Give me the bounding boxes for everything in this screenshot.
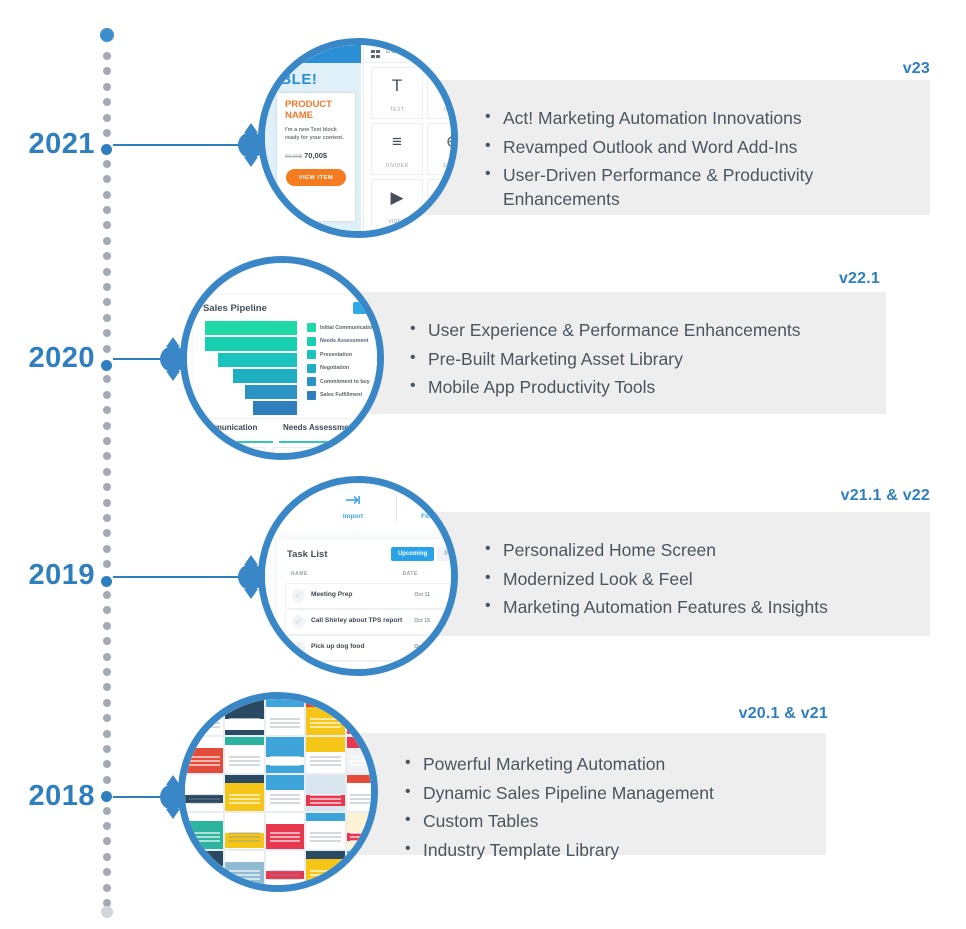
stage-tab-needs-assessment[interactable]: Needs Assessment	[283, 423, 356, 432]
year-label-2019: 2019	[3, 561, 95, 590]
feature-list-2020: User Experience & Performance Enhancemen…	[410, 319, 870, 405]
template-tile[interactable]	[306, 889, 344, 892]
spine-dot	[103, 514, 111, 522]
block-divider[interactable]: ≡ DIVIDER	[371, 123, 423, 175]
video-icon: ▶	[372, 189, 422, 206]
spine-dot	[103, 406, 111, 414]
text-icon: T	[372, 77, 422, 94]
feature-list-2019: Personalized Home Screen Modernized Look…	[485, 539, 905, 625]
product-price-old: 99,00$	[285, 154, 302, 160]
sales-pipeline-card: Sales Pipeline Count Initial Communicat	[193, 295, 384, 435]
template-tile[interactable]	[185, 699, 223, 735]
record-stepper[interactable]: ⌄⌃	[223, 447, 265, 460]
template-tile[interactable]	[306, 699, 344, 735]
name-field[interactable]: Name	[273, 447, 361, 460]
spine-dot-active	[101, 791, 112, 802]
year-label-2021: 2021	[3, 130, 95, 159]
task-checkbox[interactable]: ✓	[292, 667, 305, 676]
spine-dot	[103, 776, 111, 784]
spine-dot	[103, 191, 111, 199]
template-tile[interactable]	[347, 699, 378, 735]
grid-icon	[371, 50, 380, 58]
spine-dot	[103, 98, 111, 106]
task-row[interactable]: ✓ Pick up dog food Oct 18 Personal	[285, 635, 458, 661]
spine-dot	[103, 499, 111, 507]
connector-line-2019	[113, 576, 241, 578]
template-tile[interactable]	[306, 775, 344, 811]
template-mosaic	[185, 699, 378, 892]
template-tile[interactable]	[225, 889, 263, 892]
funnel-segment	[205, 337, 297, 351]
template-tile[interactable]	[185, 889, 223, 892]
funnel-chart	[205, 321, 297, 417]
legend-item: Sales Fulfillment 1	[307, 389, 384, 403]
funnel-segment	[205, 321, 297, 335]
action-import[interactable]: ⇥ Import	[313, 491, 393, 520]
version-tag-v20-1-v21: v20.1 & v21	[650, 705, 828, 723]
feature-list-2021: Act! Marketing Automation Innovations Re…	[485, 107, 905, 217]
task-type-badge: Personal	[450, 642, 458, 653]
spine-dot	[103, 714, 111, 722]
spine-dot	[103, 483, 111, 491]
spine-dot	[103, 622, 111, 630]
version-tag-v23: v23	[760, 60, 930, 78]
task-type-badge: Meeting	[452, 668, 458, 676]
spine-dot	[103, 237, 111, 245]
funnel-legend: Initial Communication 1 Needs Assessment…	[307, 321, 384, 402]
template-tile[interactable]	[266, 737, 304, 773]
spine-dot	[103, 67, 111, 75]
product-price-new: 70,00$	[304, 151, 327, 160]
spine-dot	[103, 653, 111, 661]
action-find-a-partner[interactable]: ⌕ Find a Partner	[403, 491, 458, 520]
spine-dot	[103, 529, 111, 537]
action-divider	[396, 495, 397, 521]
template-tile[interactable]	[347, 851, 378, 887]
spine-dot-active	[101, 360, 112, 371]
version-tag-v22-1: v22.1	[710, 270, 880, 288]
spine-dot	[103, 175, 111, 183]
spine-dot	[103, 314, 111, 322]
feature-item: User Experience & Performance Enhancemen…	[410, 319, 870, 343]
version-tag-v21-1-v22: v21.1 & v22	[700, 487, 930, 505]
spine-dot	[103, 283, 111, 291]
spine-dot	[103, 268, 111, 276]
product-name: PRODUCT NAME	[285, 100, 349, 122]
task-filter-segments: Upcoming Past Due	[391, 547, 458, 561]
task-row[interactable]: ✓ Prepare for board meeting Oct 18 Meeti…	[285, 661, 458, 676]
segment-upcoming[interactable]: Upcoming	[391, 547, 434, 561]
view-item-button[interactable]: VIEW ITEM	[286, 169, 346, 186]
divider-icon: ≡	[372, 133, 422, 150]
feature-item: Powerful Marketing Automation	[405, 753, 825, 777]
template-tile[interactable]	[185, 737, 223, 773]
template-tile[interactable]	[347, 889, 378, 892]
spine-dot	[103, 606, 111, 614]
product-body-text: I'm a new Text block ready for your cont…	[285, 126, 347, 142]
spine-dot	[103, 437, 111, 445]
spine-dot	[103, 868, 111, 876]
spine-dot	[103, 545, 111, 553]
template-tile[interactable]	[185, 851, 223, 887]
product-price: 99,00$70,00$	[285, 151, 327, 160]
stage-tab-communication[interactable]: Communication	[197, 423, 257, 432]
feature-item: Mobile App Productivity Tools	[410, 376, 870, 400]
timeline-spine	[100, 28, 114, 913]
spine-dot	[103, 329, 111, 337]
connector-line-2021	[113, 144, 241, 146]
spine-dot	[103, 221, 111, 229]
spine-dot	[103, 345, 111, 353]
template-tile[interactable]	[266, 851, 304, 887]
spine-dot	[103, 375, 111, 383]
legend-item: Negotiation 2	[307, 362, 384, 376]
funnel-segment	[218, 353, 297, 367]
search-partner-icon: ⌕	[403, 491, 458, 510]
task-list-card: Task List Upcoming Past Due ⋮ NAME DATE …	[277, 539, 458, 676]
funnel-segment	[245, 385, 297, 399]
pipeline-stage-tabs: Communication Needs Assessment	[187, 418, 384, 443]
feature-item: Revamped Outlook and Word Add-Ins	[485, 136, 905, 160]
template-tile[interactable]	[225, 775, 263, 811]
spine-dot	[103, 668, 111, 676]
feature-item: Industry Template Library	[405, 839, 825, 863]
spine-dot-active	[101, 576, 112, 587]
spine-dot	[103, 591, 111, 599]
template-tile[interactable]	[306, 737, 344, 773]
template-tile[interactable]	[347, 775, 378, 811]
connector-line-2018	[113, 796, 163, 798]
spine-dot	[103, 206, 111, 214]
thumbnail-task-list[interactable]: ⇥ Import ⌕ Find a Partner Task List Upco…	[258, 476, 458, 676]
task-table-header: NAME DATE TYPE	[291, 571, 458, 577]
legend-item: Needs Assessment 2	[307, 335, 384, 349]
template-tile[interactable]	[185, 775, 223, 811]
spine-dot	[103, 114, 111, 122]
spine-dot-active	[101, 144, 112, 155]
template-tile[interactable]	[266, 889, 304, 892]
year-label-column: 2021 2020 2019 2018	[0, 0, 95, 929]
spine-dot	[103, 853, 111, 861]
spine-dot	[103, 884, 111, 892]
feature-list-2018: Powerful Marketing Automation Dynamic Sa…	[405, 753, 825, 868]
spine-dot	[103, 560, 111, 568]
template-tile[interactable]	[266, 699, 304, 735]
spine-dot	[103, 83, 111, 91]
spine-dot	[103, 52, 111, 60]
feature-item: Custom Tables	[405, 810, 825, 834]
funnel-segment	[233, 369, 297, 383]
spine-dot	[103, 760, 111, 768]
block-text[interactable]: T TEXT	[371, 67, 423, 119]
content-block-grid: T TEXT ⛰ IMAGE ▭ BUTTON ≡ DIVIDER ⊕	[371, 67, 458, 231]
import-icon: ⇥	[313, 491, 393, 510]
task-row[interactable]: ✓ Call Shirley about TPS report Oct 15 C…	[285, 609, 458, 635]
feature-item: Pre-Built Marketing Asset Library	[410, 348, 870, 372]
legend-item: Presentation 0	[307, 348, 384, 362]
spine-dot	[103, 822, 111, 830]
template-tile[interactable]	[225, 813, 263, 849]
task-checkbox[interactable]: ✓	[292, 615, 305, 628]
thumbnail-email-builder[interactable]: ABLE! PRODUCT NAME I'm a new Text block …	[258, 38, 458, 238]
spine-dot	[103, 129, 111, 137]
feature-item: Personalized Home Screen	[485, 539, 905, 563]
year-label-2020: 2020	[3, 344, 95, 373]
template-tile[interactable]	[306, 813, 344, 849]
legend-item: Commitment to buy 1	[307, 375, 384, 389]
block-social[interactable]: ⊕ SOCIAL	[427, 123, 458, 175]
spine-dot	[103, 160, 111, 168]
feature-item: Act! Marketing Automation Innovations	[485, 107, 905, 131]
task-row[interactable]: ✓ Meeting Prep Oct 11 Meeting	[285, 583, 458, 609]
email-preview-topbar	[265, 45, 361, 63]
template-tile[interactable]	[306, 851, 344, 887]
product-card: PRODUCT NAME I'm a new Text block ready …	[277, 93, 355, 221]
content-blocks-panel: CONTENT T TEXT ⛰ IMAGE ▭ BUTTON	[363, 45, 458, 238]
template-tile[interactable]	[266, 775, 304, 811]
legend-item: Initial Communication 1	[307, 321, 384, 335]
thumbnail-sales-pipeline[interactable]: Sales Pipeline Count Initial Communicat	[180, 256, 384, 460]
pipeline-title: Sales Pipeline	[203, 303, 267, 314]
content-tab[interactable]: CONTENT	[364, 45, 458, 63]
spine-dot	[103, 683, 111, 691]
block-video[interactable]: ▶ VIDEO	[371, 179, 423, 231]
feature-item: Modernized Look & Feel	[485, 568, 905, 592]
task-list-title: Task List	[287, 549, 327, 560]
spine-dot	[103, 730, 111, 738]
spine-dot	[103, 745, 111, 753]
spine-dot	[103, 298, 111, 306]
spine-dot	[103, 452, 111, 460]
template-tile[interactable]	[225, 851, 263, 887]
template-tile[interactable]	[225, 699, 263, 735]
template-tile[interactable]	[185, 813, 223, 849]
spine-dot	[103, 422, 111, 430]
spine-dot	[103, 807, 111, 815]
funnel-segment	[253, 401, 297, 415]
connector-line-2020	[113, 358, 163, 360]
social-icon: ⊕	[428, 133, 458, 150]
feature-item: Dynamic Sales Pipeline Management	[405, 782, 825, 806]
spine-dot	[103, 837, 111, 845]
thumbnail-template-library[interactable]	[178, 692, 378, 892]
spine-dot	[103, 637, 111, 645]
quick-actions-bar: ⇥ Import ⌕ Find a Partner	[265, 489, 458, 531]
spine-dot	[103, 699, 111, 707]
template-tile[interactable]	[225, 737, 263, 773]
year-label-2018: 2018	[3, 782, 95, 811]
spine-head-dot	[100, 28, 114, 42]
spine-dot	[103, 468, 111, 476]
task-checkbox[interactable]: ✓	[292, 641, 305, 654]
feature-item: User-Driven Performance & Productivity E…	[485, 164, 905, 211]
spine-dot	[103, 252, 111, 260]
task-checkbox[interactable]: ✓	[292, 589, 305, 602]
spine-dot	[103, 391, 111, 399]
email-banner-text: ABLE!	[269, 71, 317, 88]
content-tab-label: CONTENT	[386, 49, 419, 55]
feature-item: Marketing Automation Features & Insights	[485, 596, 905, 620]
template-tile[interactable]	[266, 813, 304, 849]
spine-tail-dot	[101, 906, 113, 918]
name-field-placeholder: Name	[280, 452, 297, 459]
